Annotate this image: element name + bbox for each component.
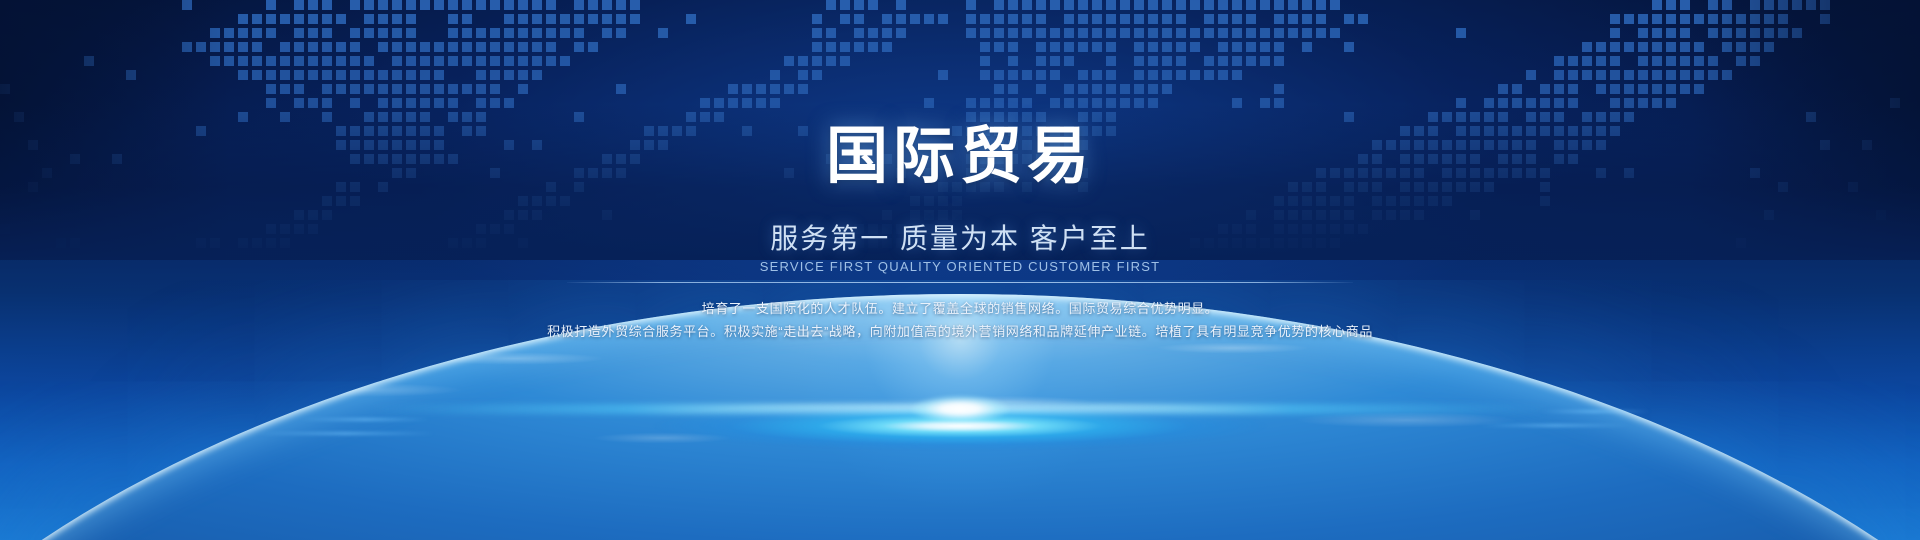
hero-banner: 国际贸易 服务第一 质量为本 客户至上 SERVICE FIRST QUALIT… bbox=[0, 0, 1920, 540]
description-paragraph: 培育了一支国际化的人才队伍。建立了覆盖全球的销售网络。国际贸易综合优势明显。 积… bbox=[0, 297, 1920, 343]
description-line: 积极打造外贸综合服务平台。积极实施“走出去”战略，向附加值高的境外营销网络和品牌… bbox=[0, 320, 1920, 343]
banner-content: 国际贸易 服务第一 质量为本 客户至上 SERVICE FIRST QUALIT… bbox=[0, 0, 1920, 540]
divider bbox=[567, 282, 1353, 283]
subtitle-english: SERVICE FIRST QUALITY ORIENTED CUSTOMER … bbox=[0, 259, 1920, 274]
description-line: 培育了一支国际化的人才队伍。建立了覆盖全球的销售网络。国际贸易综合优势明显。 bbox=[0, 297, 1920, 320]
page-title: 国际贸易 bbox=[0, 126, 1920, 188]
subtitle-chinese: 服务第一 质量为本 客户至上 bbox=[0, 224, 1920, 254]
